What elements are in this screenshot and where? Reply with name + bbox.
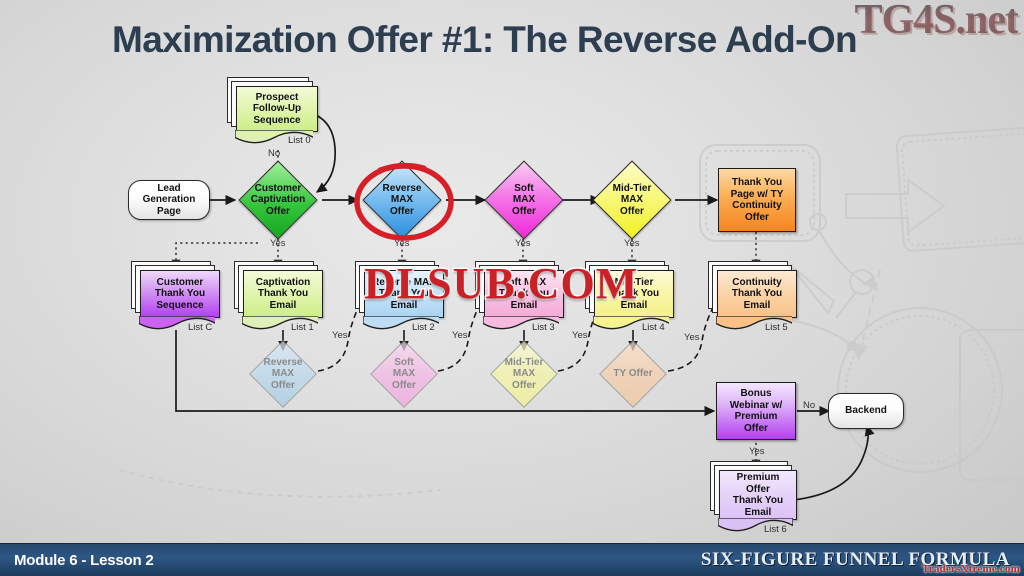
node-bonus-webinar-premium-offer[interactable]: BonusWebinar w/PremiumOffer [716, 382, 796, 440]
node-label: Mid-TierMAXOffer [613, 183, 652, 218]
list-label-4: List 4 [642, 322, 665, 333]
node-premium-offer-thank-you-email[interactable]: PremiumOfferThank YouEmail [719, 470, 797, 520]
node-label: CustomerCaptivationOffer [251, 183, 305, 218]
node-backend[interactable]: Backend [828, 393, 904, 429]
list-label-5: List 5 [765, 322, 788, 333]
list-label-6: List 6 [764, 524, 787, 535]
edge-label-yes-soft: Yes [515, 238, 531, 249]
node-customer-thank-you-sequence[interactable]: CustomerThank YouSequence [140, 270, 220, 318]
list-label-c: List C [188, 322, 212, 333]
node-soft-max-offer[interactable]: SoftMAXOffer [482, 172, 566, 228]
watermark-dlsub: DLSUB.COM [364, 258, 638, 309]
edge-label-yes-premium: Yes [749, 446, 765, 457]
node-label: ProspectFollow-UpSequence [253, 92, 301, 127]
node-label: Thank YouPage w/ TYContinuityOffer [731, 177, 784, 223]
node-label: CustomerThank YouSequence [155, 277, 205, 312]
node-label: Backend [845, 405, 887, 417]
node-label: ReverseMAXOffer [264, 357, 303, 392]
footer-bar: Module 6 - Lesson 2 SIX-FIGURE FUNNEL FO… [0, 543, 1024, 576]
list-label-1: List 1 [291, 322, 314, 333]
node-mid-tier-max-offer-repeat[interactable]: Mid-TierMAXOffer [486, 350, 562, 398]
edge-label-yes-reverse: Yes [394, 238, 410, 249]
node-label: PremiumOfferThank YouEmail [733, 472, 783, 518]
edge-label-yes-midtier: Yes [624, 238, 640, 249]
list-label-3: List 3 [532, 322, 555, 333]
node-lead-generation-page[interactable]: LeadGenerationPage [128, 180, 210, 220]
edge-label-yes-email-2: Yes [452, 330, 468, 341]
node-mid-tier-max-offer[interactable]: Mid-TierMAXOffer [590, 172, 674, 228]
watermark-tradersxtreme: TradersXtreme.com [922, 563, 1020, 575]
node-label: SoftMAXOffer [392, 357, 416, 392]
edge-label-yes-email-1: Yes [332, 330, 348, 341]
footer-module-label: Module 6 - Lesson 2 [14, 552, 154, 569]
node-label: Mid-TierMAXOffer [505, 357, 544, 392]
node-label: CaptivationThank YouEmail [256, 277, 310, 312]
edge-label-yes-email-3: Yes [572, 330, 588, 341]
edge-label-yes-email-4: Yes [684, 332, 700, 343]
edge-label-no-backend: No [803, 400, 815, 411]
node-captivation-thank-you-email[interactable]: CaptivationThank YouEmail [243, 270, 323, 318]
node-continuity-thank-you-email[interactable]: ContinuityThank YouEmail [717, 270, 797, 318]
node-label: ContinuityThank YouEmail [732, 277, 782, 312]
node-label: SoftMAXOffer [512, 183, 536, 218]
list-label-2: List 2 [412, 322, 435, 333]
node-thank-you-page-continuity-offer[interactable]: Thank YouPage w/ TYContinuityOffer [718, 168, 796, 232]
node-reverse-max-offer-repeat[interactable]: ReverseMAXOffer [245, 350, 321, 398]
node-soft-max-offer-repeat[interactable]: SoftMAXOffer [366, 350, 442, 398]
node-prospect-follow-up-sequence[interactable]: ProspectFollow-UpSequence [236, 86, 318, 132]
edge-label-yes-captivation: Yes [270, 238, 286, 249]
node-ty-offer[interactable]: TY Offer [595, 350, 671, 398]
node-label: TY Offer [613, 368, 652, 380]
node-reverse-max-offer[interactable]: ReverseMAXOffer [360, 172, 444, 228]
list-label-0: List 0 [288, 135, 311, 146]
edge-label-no-prospect: No [268, 148, 280, 159]
node-label: ReverseMAXOffer [383, 183, 422, 218]
node-customer-captivation-offer[interactable]: CustomerCaptivationOffer [236, 172, 320, 228]
node-label: LeadGenerationPage [143, 183, 196, 218]
node-label: BonusWebinar w/PremiumOffer [730, 388, 783, 434]
